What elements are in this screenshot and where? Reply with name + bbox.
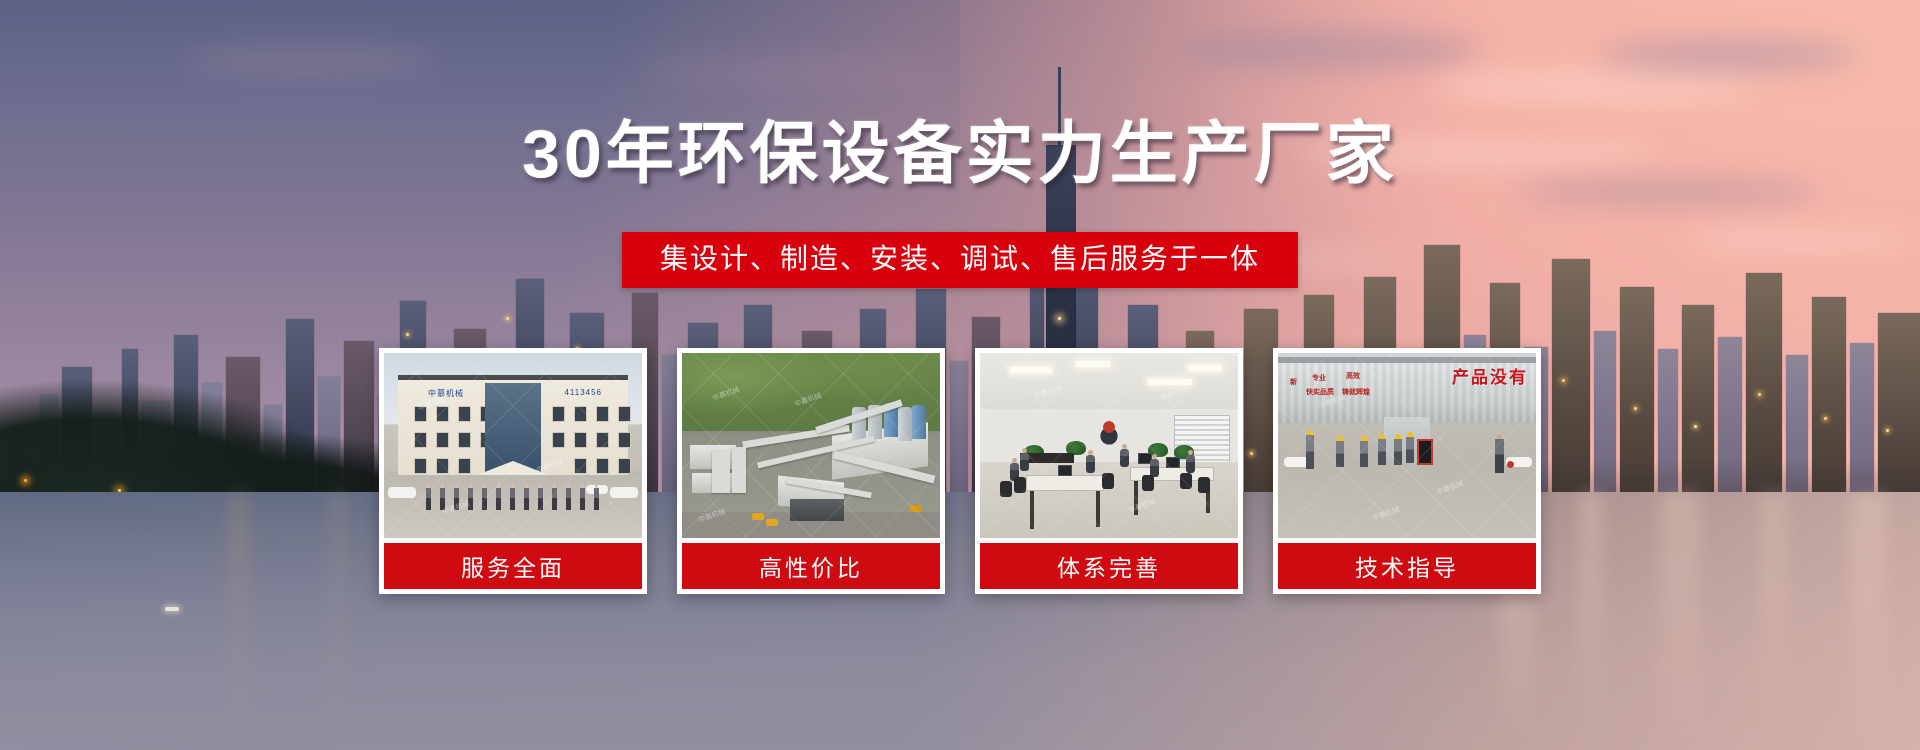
feature-card-row: 中慕机械 4113456 (379, 348, 1541, 594)
card-caption: 高性价比 (682, 543, 940, 589)
aerial-industrial-plant-photo[interactable]: 中慕机械 中慕机械 中慕机械 (682, 353, 940, 538)
building-phone-label: 4113456 (564, 388, 602, 397)
feature-card-value[interactable]: 中慕机械 中慕机械 中慕机械 高性价比 (677, 348, 945, 594)
feature-card-service[interactable]: 中慕机械 4113456 (379, 348, 647, 594)
wall-logo (1090, 415, 1128, 445)
feature-card-guidance[interactable]: 产品没有 新 专业 高效 快实品质 铸就辉煌 (1273, 348, 1541, 594)
factory-workers-training-photo[interactable]: 产品没有 新 专业 高效 快实品质 铸就辉煌 (1278, 353, 1536, 538)
page-title: 30年环保设备实力生产厂家 (0, 120, 1920, 188)
boat (165, 607, 179, 611)
card-caption: 体系完善 (980, 543, 1238, 589)
card-caption: 技术指导 (1278, 543, 1536, 589)
red-helmet-icon (1507, 461, 1514, 468)
feature-card-system[interactable]: 中慕机械 中慕机械 中慕机械 体系完善 (975, 348, 1243, 594)
hero-banner: 30年环保设备实力生产厂家 集设计、制造、安装、调试、售后服务于一体 中慕机械 … (0, 0, 1920, 750)
factory-wall-slogan: 产品没有 (1452, 363, 1528, 388)
card-caption: 服务全面 (384, 543, 642, 589)
subtitle-banner: 集设计、制造、安装、调试、售后服务于一体 (622, 232, 1298, 288)
office-interior-team-photo[interactable]: 中慕机械 中慕机械 中慕机械 (980, 353, 1238, 538)
company-headquarters-building-photo[interactable]: 中慕机械 4113456 (384, 353, 642, 538)
